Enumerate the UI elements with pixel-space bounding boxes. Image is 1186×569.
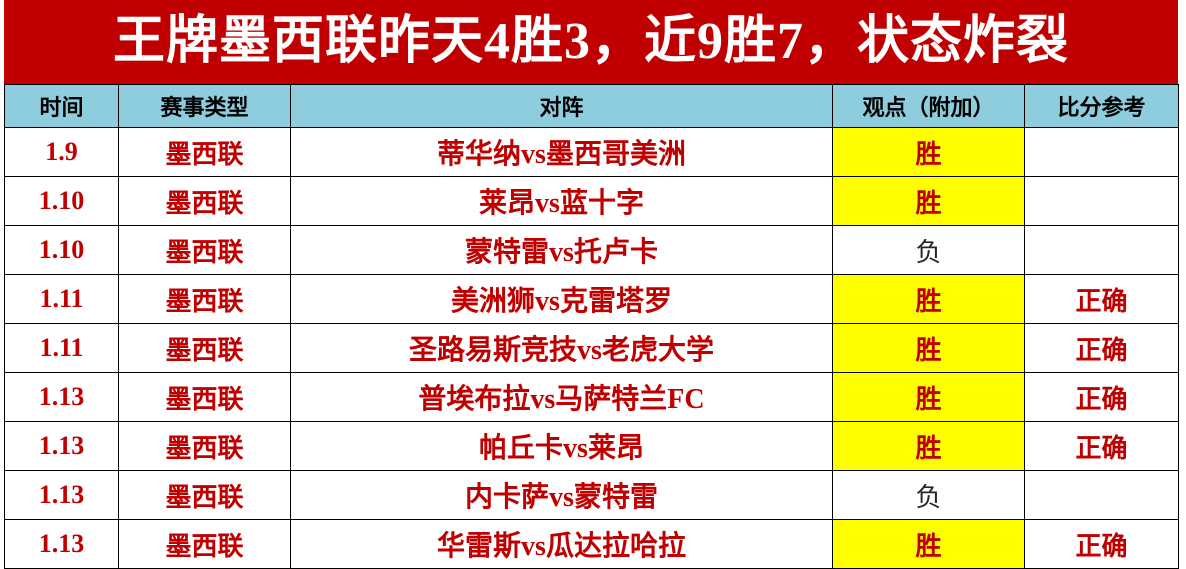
cell-match: 莱昂vs蓝十字: [291, 177, 833, 226]
table-row: 1.11墨西联美洲狮vs克雷塔罗胜正确: [5, 275, 1179, 324]
cell-type: 墨西联: [119, 128, 291, 177]
cell-match: 蒂华纳vs墨西哥美洲: [291, 128, 833, 177]
column-header-score: 比分参考: [1025, 85, 1179, 128]
table-header-row: 时间 赛事类型 对阵 观点（附加） 比分参考: [5, 85, 1179, 128]
table-row: 1.10墨西联莱昂vs蓝十字胜: [5, 177, 1179, 226]
cell-time: 1.13: [5, 422, 119, 471]
cell-score: 正确: [1025, 520, 1179, 569]
cell-score: 正确: [1025, 275, 1179, 324]
cell-view: 胜: [833, 275, 1025, 324]
cell-match: 蒙特雷vs托卢卡: [291, 226, 833, 275]
cell-view: 胜: [833, 128, 1025, 177]
column-header-match: 对阵: [291, 85, 833, 128]
cell-type: 墨西联: [119, 275, 291, 324]
table-header: 时间 赛事类型 对阵 观点（附加） 比分参考: [5, 85, 1179, 128]
table-body: 1.9墨西联蒂华纳vs墨西哥美洲胜1.10墨西联莱昂vs蓝十字胜1.10墨西联蒙…: [5, 128, 1179, 569]
cell-type: 墨西联: [119, 520, 291, 569]
cell-score: 正确: [1025, 422, 1179, 471]
predictions-table: 时间 赛事类型 对阵 观点（附加） 比分参考 1.9墨西联蒂华纳vs墨西哥美洲胜…: [4, 84, 1179, 569]
cell-match: 普埃布拉vs马萨特兰FC: [291, 373, 833, 422]
cell-type: 墨西联: [119, 422, 291, 471]
banner-title: 王牌墨西联昨天4胜3，近9胜7，状态炸裂: [113, 13, 1069, 71]
table-row: 1.11墨西联圣路易斯竞技vs老虎大学胜正确: [5, 324, 1179, 373]
cell-type: 墨西联: [119, 226, 291, 275]
cell-type: 墨西联: [119, 324, 291, 373]
cell-score: [1025, 128, 1179, 177]
prediction-sheet-page: 王牌墨西联昨天4胜3，近9胜7，状态炸裂 时间 赛事类型 对阵 观点（附加） 比…: [0, 0, 1186, 562]
table-row: 1.13墨西联普埃布拉vs马萨特兰FC胜正确: [5, 373, 1179, 422]
cell-type: 墨西联: [119, 471, 291, 520]
cell-score: 正确: [1025, 373, 1179, 422]
cell-view: 胜: [833, 177, 1025, 226]
cell-match: 圣路易斯竞技vs老虎大学: [291, 324, 833, 373]
cell-time: 1.13: [5, 373, 119, 422]
cell-view: 胜: [833, 520, 1025, 569]
column-header-type: 赛事类型: [119, 85, 291, 128]
cell-match: 美洲狮vs克雷塔罗: [291, 275, 833, 324]
table-row: 1.9墨西联蒂华纳vs墨西哥美洲胜: [5, 128, 1179, 177]
cell-time: 1.13: [5, 471, 119, 520]
cell-score: [1025, 471, 1179, 520]
cell-time: 1.10: [5, 177, 119, 226]
cell-match: 内卡萨vs蒙特雷: [291, 471, 833, 520]
cell-time: 1.10: [5, 226, 119, 275]
cell-score: [1025, 177, 1179, 226]
cell-time: 1.9: [5, 128, 119, 177]
cell-view: 负: [833, 471, 1025, 520]
column-header-view: 观点（附加）: [833, 85, 1025, 128]
column-header-time: 时间: [5, 85, 119, 128]
cell-view: 胜: [833, 324, 1025, 373]
cell-type: 墨西联: [119, 373, 291, 422]
cell-view: 胜: [833, 373, 1025, 422]
cell-match: 华雷斯vs瓜达拉哈拉: [291, 520, 833, 569]
cell-match: 帕丘卡vs莱昂: [291, 422, 833, 471]
cell-time: 1.11: [5, 324, 119, 373]
cell-time: 1.11: [5, 275, 119, 324]
cell-time: 1.13: [5, 520, 119, 569]
table-row: 1.13墨西联内卡萨vs蒙特雷负: [5, 471, 1179, 520]
banner: 王牌墨西联昨天4胜3，近9胜7，状态炸裂: [4, 0, 1178, 84]
cell-score: 正确: [1025, 324, 1179, 373]
table-row: 1.10墨西联蒙特雷vs托卢卡负: [5, 226, 1179, 275]
cell-type: 墨西联: [119, 177, 291, 226]
cell-view: 胜: [833, 422, 1025, 471]
table-row: 1.13墨西联华雷斯vs瓜达拉哈拉胜正确: [5, 520, 1179, 569]
table-row: 1.13墨西联帕丘卡vs莱昂胜正确: [5, 422, 1179, 471]
cell-score: [1025, 226, 1179, 275]
cell-view: 负: [833, 226, 1025, 275]
